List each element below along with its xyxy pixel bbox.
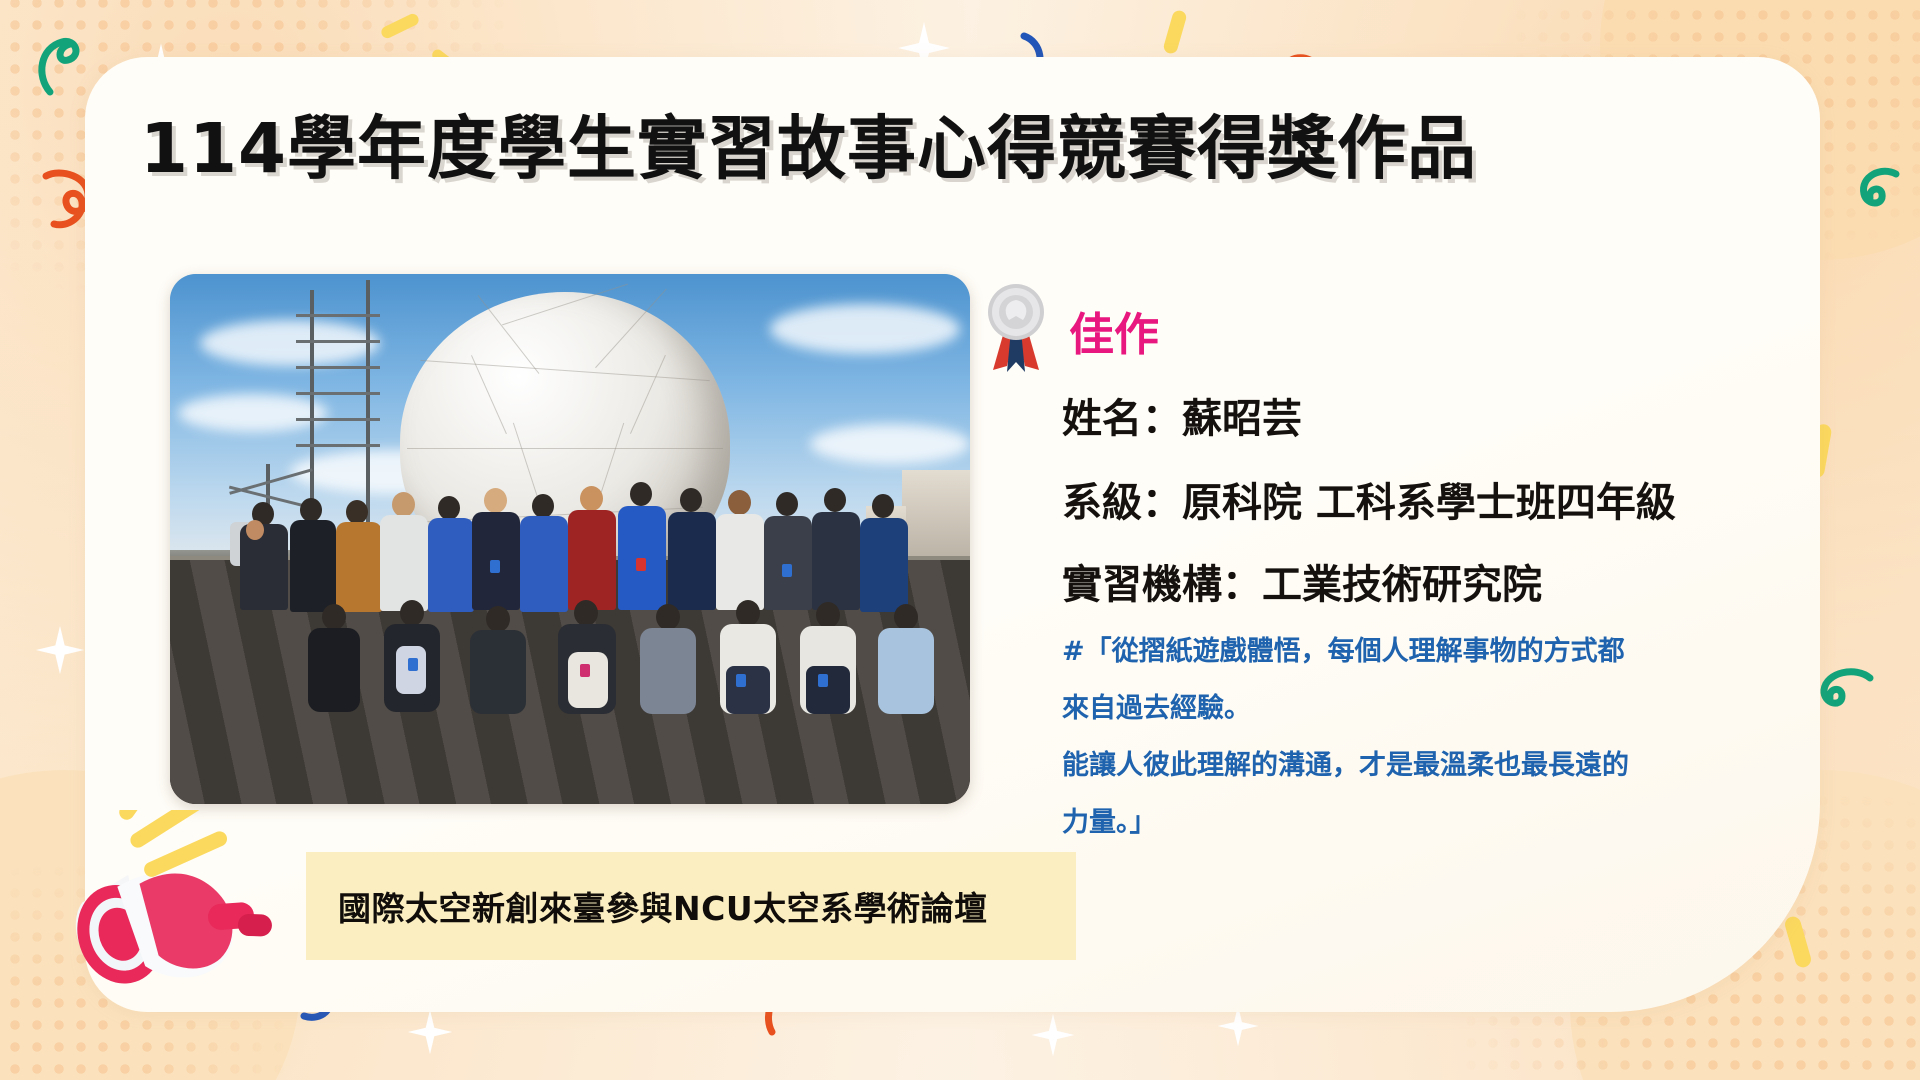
squiggle-green-right-icon	[1848, 160, 1908, 220]
star-white-bottom-left-icon	[406, 1008, 454, 1056]
squiggle-green-top-left-icon	[30, 22, 100, 102]
award-row: 佳作	[985, 282, 1159, 378]
silver-medal-ribbon-icon	[985, 282, 1047, 378]
group-photo	[170, 274, 970, 804]
page-title: 114學年度學生實習故事心得競賽得獎作品	[140, 92, 1570, 192]
quote-line-4: 力量。」	[1062, 794, 1762, 851]
photo-caption-banner: 國際太空新創來臺參與NCU太空系學術論壇	[306, 852, 1076, 960]
photo-caption-text: 國際太空新創來臺參與NCU太空系學術論壇	[338, 882, 988, 930]
quote-line-3: 能讓人彼此理解的溝通，才是最溫柔也最長遠的	[1062, 737, 1762, 794]
star-white-left-icon	[34, 624, 86, 676]
award-label: 佳作	[1069, 298, 1159, 363]
squiggle-green-bottom-right-icon	[1812, 660, 1882, 720]
megaphone-icon	[60, 810, 310, 1050]
quote-line-1: #「從摺紙遊戲體悟，每個人理解事物的方式都	[1062, 623, 1762, 680]
star-white-bottom-mid-icon	[1030, 1012, 1076, 1058]
student-name: 姓名：蘇昭芸	[1062, 386, 1302, 444]
quote-line-2: 來自過去經驗。	[1062, 680, 1762, 737]
student-department: 系級：原科院 工科系學士班四年級	[1062, 470, 1676, 528]
quote-block: #「從摺紙遊戲體悟，每個人理解事物的方式都 來自過去經驗。 能讓人彼此理解的溝通…	[1062, 623, 1762, 851]
internship-organization: 實習機構：工業技術研究院	[1062, 552, 1542, 610]
